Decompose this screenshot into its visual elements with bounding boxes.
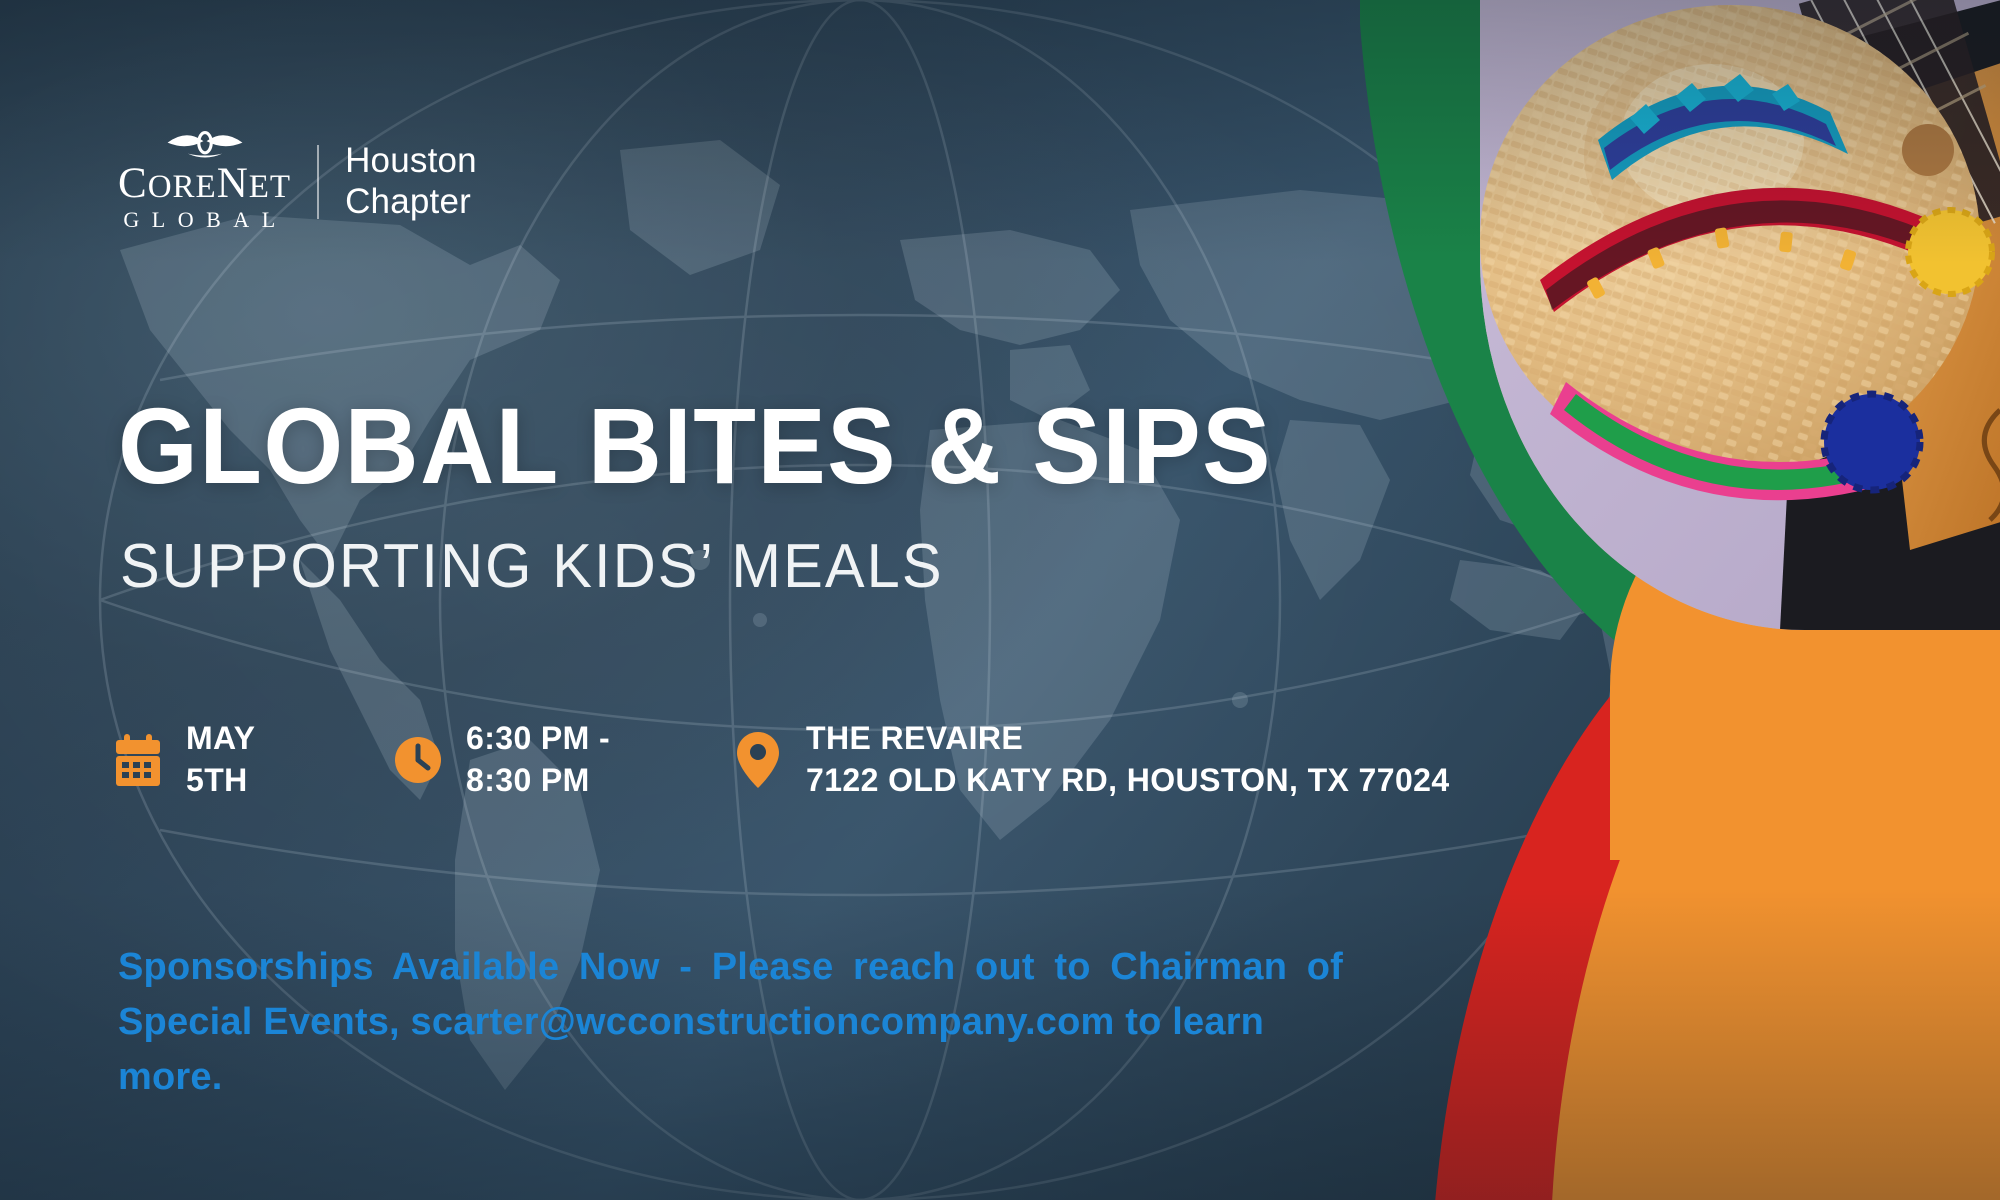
event-venue-address: 7122 OLD KATY RD, HOUSTON, TX 77024	[806, 760, 1450, 802]
calendar-icon	[112, 731, 164, 789]
event-location-text: THE REVAIRE 7122 OLD KATY RD, HOUSTON, T…	[806, 718, 1450, 801]
logo-chapter-line1: Houston	[345, 141, 477, 182]
logo-divider	[317, 145, 319, 219]
decorative-art-panel	[1360, 0, 2000, 1200]
event-time-line2: 8:30 PM	[466, 760, 610, 802]
corenet-global-houston-logo: CORENET GLOBAL Houston Chapter	[118, 130, 477, 235]
event-date-block: MAY 5TH	[112, 718, 392, 801]
corenet-swoosh-icon	[166, 130, 244, 160]
event-date-text: MAY 5TH	[186, 718, 255, 801]
event-time-line1: 6:30 PM -	[466, 720, 610, 756]
event-date-line2: 5TH	[186, 760, 255, 802]
event-title: GLOBAL BITES & SIPS	[118, 392, 1272, 500]
clock-icon	[392, 731, 444, 789]
logo-chapter-line2: Chapter	[345, 182, 477, 223]
logo-wordmark-global: GLOBAL	[121, 205, 287, 235]
event-time-text: 6:30 PM - 8:30 PM	[466, 718, 610, 801]
sponsorship-line2: Special Events, scarter@wcconstructionco…	[118, 995, 1358, 1105]
event-time-block: 6:30 PM - 8:30 PM	[392, 718, 732, 801]
event-location-block: THE REVAIRE 7122 OLD KATY RD, HOUSTON, T…	[732, 718, 1450, 801]
map-pin-icon	[732, 731, 784, 789]
event-venue-name: THE REVAIRE	[806, 720, 1023, 756]
event-date-line1: MAY	[186, 720, 255, 756]
sponsorship-message: Sponsorships Available Now - Please reac…	[118, 940, 1358, 1105]
event-subtitle: SUPPORTING KIDS’ MEALS	[120, 536, 944, 598]
event-details-row: MAY 5TH 6:30 PM - 8:30 PM	[112, 718, 1450, 801]
sponsorship-line1: Sponsorships Available Now - Please reac…	[118, 940, 1343, 995]
fiesta-photo	[1480, 0, 2000, 630]
event-flyer: CORENET GLOBAL Houston Chapter GLOBAL BI…	[0, 0, 2000, 1200]
logo-wordmark-corenet: CORENET	[118, 162, 291, 205]
